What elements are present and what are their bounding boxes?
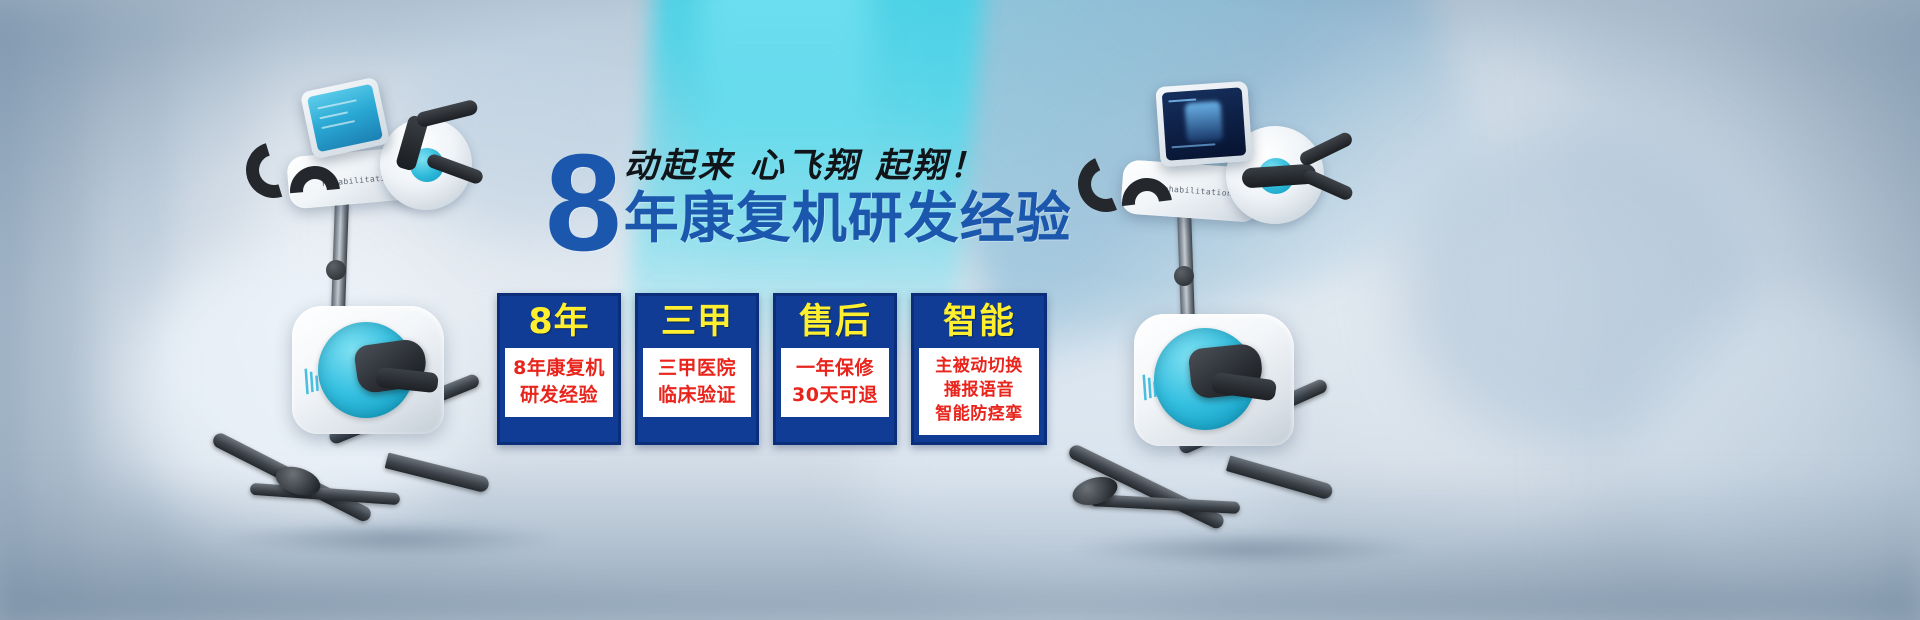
- badge-title: 8年: [528, 303, 589, 342]
- badge-line: 智能防痉挛: [935, 403, 1023, 427]
- base-foot: [385, 453, 491, 494]
- badge-line: 30天可退: [792, 382, 878, 409]
- pole-adjust-knob: [1174, 266, 1194, 286]
- badge-smart[interactable]: 智能 主被动切换 播报语音 智能防痉挛: [911, 293, 1047, 445]
- screen-display: [307, 84, 383, 152]
- feature-badges: 8年 8年康复机 研发经验 三甲 三甲医院 临床验证 售后 一年保修 30天可退…: [497, 293, 1047, 445]
- badge-years[interactable]: 8年 8年康复机 研发经验: [497, 293, 621, 445]
- badge-body: 一年保修 30天可退: [781, 348, 889, 417]
- badge-line: 临床验证: [658, 382, 736, 409]
- badge-after-sales[interactable]: 售后 一年保修 30天可退: [773, 293, 897, 445]
- badge-line: 主被动切换: [935, 355, 1023, 379]
- headline-big-number: 8: [545, 140, 618, 267]
- headline-text-lines: 动起来 心飞翔 起翔！ 年康复机研发经验: [624, 140, 1072, 251]
- badge-body: 主被动切换 播报语音 智能防痉挛: [919, 348, 1039, 434]
- promo-banner: Rehabilitation Machine: [0, 0, 1920, 620]
- badge-title: 智能: [943, 303, 1015, 342]
- product-rehab-bike-right: Rehabilitation Machine: [1030, 70, 1460, 560]
- badge-line: 研发经验: [520, 382, 598, 409]
- screen-glow: [1185, 101, 1223, 143]
- badge-line: 播报语音: [944, 379, 1014, 403]
- product-shadow: [1073, 532, 1417, 566]
- control-screen-right[interactable]: [1155, 81, 1252, 167]
- badge-body: 三甲医院 临床验证: [643, 348, 751, 417]
- badge-hospital-grade[interactable]: 三甲 三甲医院 临床验证: [635, 293, 759, 445]
- badge-line: 8年康复机: [513, 355, 605, 382]
- screen-display: [1162, 87, 1247, 160]
- product-shadow: [222, 522, 558, 556]
- headline-main: 年康复机研发经验: [624, 187, 1072, 251]
- headline-tagline: 动起来 心飞翔 起翔！: [624, 148, 1072, 185]
- brand-logo-icon: [1142, 374, 1159, 401]
- pole-adjust-knob: [326, 260, 346, 280]
- headline-block: 8 动起来 心飞翔 起翔！ 年康复机研发经验: [545, 140, 1072, 267]
- badge-line: 三甲医院: [658, 355, 736, 382]
- badge-title: 三甲: [661, 303, 733, 342]
- badge-body: 8年康复机 研发经验: [505, 348, 613, 417]
- base-crossbar: [1090, 494, 1240, 514]
- brand-logo-icon: [304, 368, 321, 395]
- control-screen-left[interactable]: [300, 77, 390, 160]
- badge-line: 一年保修: [796, 355, 874, 382]
- badge-title: 售后: [799, 303, 871, 342]
- base-foot: [1226, 455, 1334, 500]
